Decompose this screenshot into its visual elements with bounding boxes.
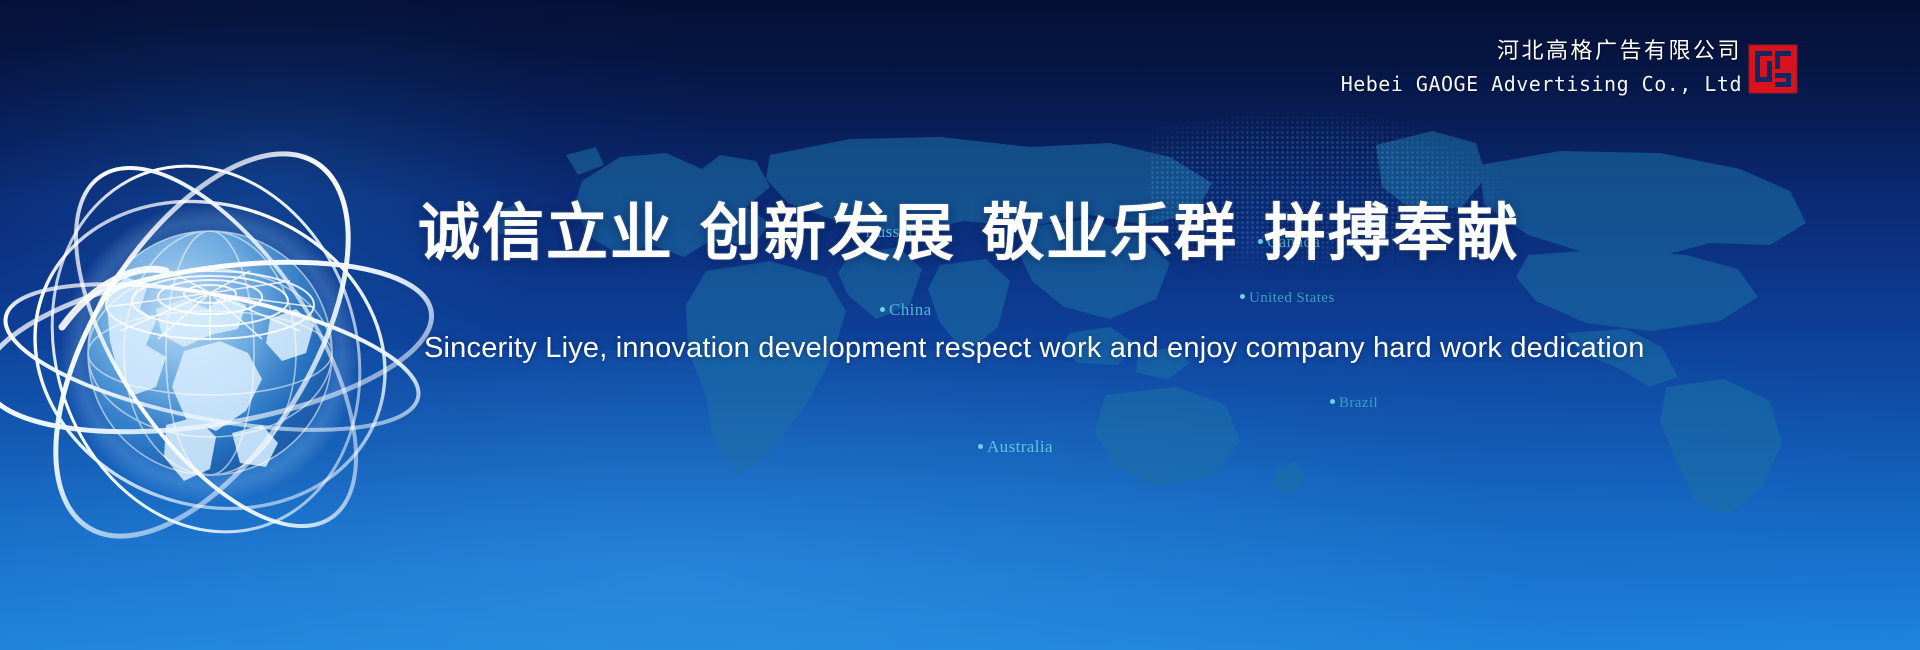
slogan-segment-4: 拼搏奉献 <box>1264 196 1520 269</box>
orbiting-globe-graphic <box>0 95 440 565</box>
background-top-shade <box>0 0 1920 200</box>
map-label-united-states: United States <box>1240 290 1335 307</box>
slogan-segment-1: 诚信立业 <box>418 196 674 269</box>
company-banner: Russia Canada China United States Austra… <box>0 0 1920 650</box>
company-identity: 河北高格广告有限公司 Hebei GAOGE Advertising Co., … <box>1341 38 1742 97</box>
slogan-chinese: 诚信立业创新发展敬业乐群拼搏奉献 <box>418 200 1520 265</box>
gaoge-logo-icon <box>1748 44 1798 94</box>
slogan-segment-3: 敬业乐群 <box>982 196 1238 269</box>
slogan-english: Sincerity Liye, innovation development r… <box>424 332 1645 365</box>
background-glow-bottom <box>0 350 1920 650</box>
map-label-brazil: Brazil <box>1330 395 1378 412</box>
map-label-australia: Australia <box>978 437 1053 457</box>
world-map-silhouette <box>470 95 1920 525</box>
company-name-en: Hebei GAOGE Advertising Co., Ltd <box>1341 72 1742 97</box>
company-name-cn: 河北高格广告有限公司 <box>1341 38 1742 66</box>
map-label-china: China <box>880 300 932 320</box>
background-glow-top-left <box>0 0 720 560</box>
slogan-segment-2: 创新发展 <box>700 196 956 269</box>
